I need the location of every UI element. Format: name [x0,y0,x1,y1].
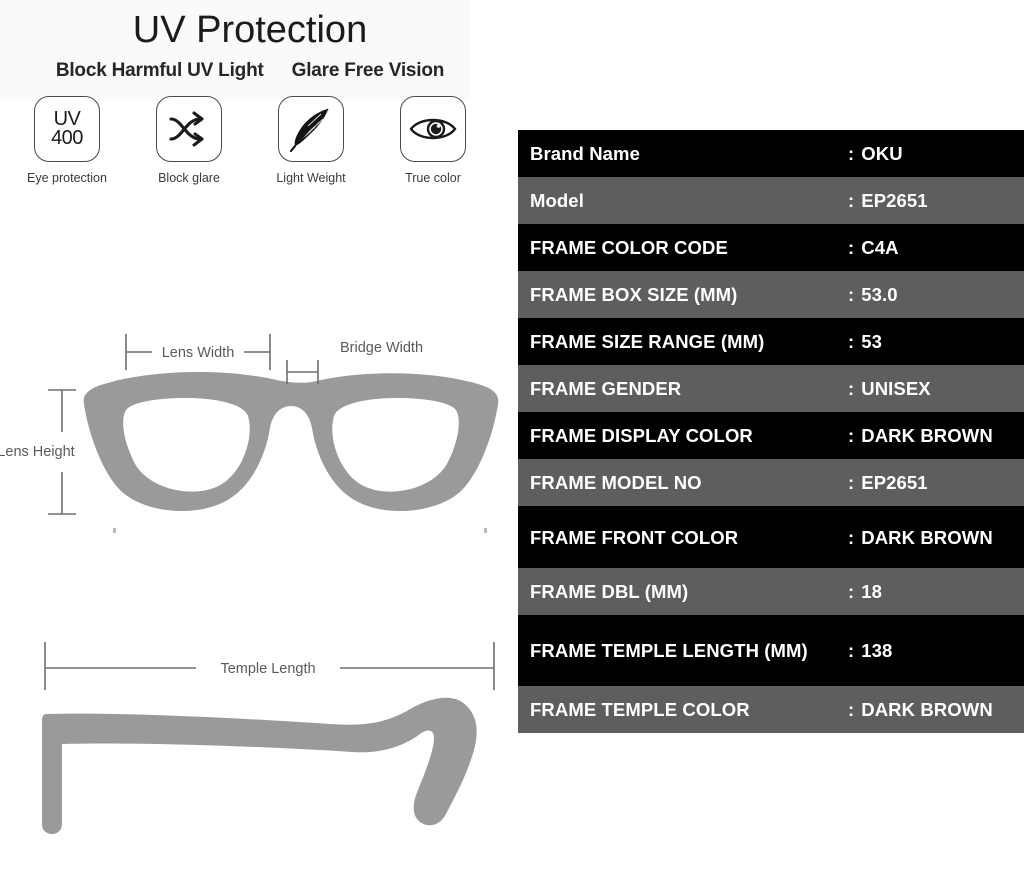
uv-feature-icons: UV 400 Eye protection [0,96,500,185]
table-row: FRAME FRONT COLOR :DARK BROWN [518,506,1024,568]
uv-subtitle-block-uv: Block Harmful UV Light [56,60,264,82]
product-spec-sheet: UV Protection Block Harmful UV Light Gla… [0,0,1024,886]
spec-label: FRAME GENDER [518,377,848,400]
feature-true-color: True color [390,96,476,185]
artifact-dot-right [484,528,487,533]
lens-height-label: Lens Height [0,444,75,460]
feature-light-weight: Light Weight [268,96,354,185]
table-row: FRAME DBL (MM) :18 [518,568,1024,615]
spec-value-text: OKU [861,143,902,164]
feature-caption-light-weight: Light Weight [276,171,345,185]
spec-value-text: 138 [861,640,892,661]
spec-value: :DARK BROWN [848,424,1024,447]
spec-value-text: C4A [861,237,898,258]
spec-value: :DARK BROWN [848,698,1024,721]
temple-arm-shape [42,698,477,834]
temple-length-label: Temple Length [220,661,315,677]
spec-separator: : [848,425,854,446]
spec-label: Brand Name [518,142,848,165]
spec-value: :UNISEX [848,377,1024,400]
table-row: FRAME GENDER :UNISEX [518,365,1024,412]
bridge-width-dimension [287,360,318,384]
spec-separator: : [848,237,854,258]
spec-value-text: 53.0 [861,284,897,305]
spec-label: FRAME SIZE RANGE (MM) [518,330,848,353]
spec-value: :C4A [848,236,1024,259]
feature-caption-true-color: True color [405,171,461,185]
uv-banner-title: UV Protection [0,0,500,52]
table-row: FRAME MODEL NO :EP2651 [518,459,1024,506]
table-row: FRAME TEMPLE COLOR :DARK BROWN [518,686,1024,733]
spec-label: FRAME BOX SIZE (MM) [518,283,848,306]
spec-value: :138 [848,639,1024,662]
spec-separator: : [848,640,854,661]
specification-table: Brand Name :OKU Model :EP2651 FRAME COLO… [518,130,1024,733]
spec-label: FRAME DBL (MM) [518,580,848,603]
uv400-icon: UV 400 [34,96,100,162]
uv400-badge-line2: 400 [51,129,83,148]
spec-value: :OKU [848,142,1024,165]
table-row: FRAME BOX SIZE (MM) :53.0 [518,271,1024,318]
table-row: Brand Name :OKU [518,130,1024,177]
frame-measurement-diagram: Lens Width Bridge Width Lens Height [0,322,512,552]
spec-value-text: UNISEX [861,378,930,399]
spec-label: FRAME MODEL NO [518,471,848,494]
table-row: FRAME TEMPLE LENGTH (MM) :138 [518,615,1024,686]
spec-separator: : [848,472,854,493]
spec-label: Model [518,189,848,212]
table-row: FRAME DISPLAY COLOR :DARK BROWN [518,412,1024,459]
spec-value: :EP2651 [848,471,1024,494]
artifact-dot-left [113,528,116,533]
spec-separator: : [848,190,854,211]
spec-separator: : [848,378,854,399]
uv-protection-banner: UV Protection Block Harmful UV Light Gla… [0,0,512,185]
spec-value: :EP2651 [848,189,1024,212]
eye-icon [400,96,466,162]
feature-caption-eye-protection: Eye protection [27,171,107,185]
spec-value-text: DARK BROWN [861,527,993,548]
spec-value: :18 [848,580,1024,603]
spec-value: :DARK BROWN [848,526,1024,549]
table-row: FRAME COLOR CODE :C4A [518,224,1024,271]
lens-width-label: Lens Width [162,345,235,361]
table-row: FRAME SIZE RANGE (MM) :53 [518,318,1024,365]
feature-caption-block-glare: Block glare [158,171,220,185]
spec-separator: : [848,143,854,164]
spec-separator: : [848,331,854,352]
spec-value-text: DARK BROWN [861,699,993,720]
bridge-width-label: Bridge Width [340,340,423,356]
spec-value-text: EP2651 [861,190,927,211]
spec-value-text: EP2651 [861,472,927,493]
spec-value: :53.0 [848,283,1024,306]
spec-value: :53 [848,330,1024,353]
uv-subtitle-glare-free: Glare Free Vision [292,60,445,82]
feature-eye-protection: UV 400 Eye protection [24,96,110,185]
spec-value-text: DARK BROWN [861,425,993,446]
spec-label: FRAME COLOR CODE [518,236,848,259]
temple-measurement-diagram: Temple Length [0,628,512,853]
feather-icon [278,96,344,162]
spec-label: FRAME DISPLAY COLOR [518,424,848,447]
eyeglass-frame-shape [84,372,499,511]
shuffle-arrows-icon [156,96,222,162]
table-row: Model :EP2651 [518,177,1024,224]
spec-separator: : [848,284,854,305]
uv-banner-subtitles: Block Harmful UV Light Glare Free Vision [0,60,500,82]
spec-label: FRAME TEMPLE LENGTH (MM) [518,639,848,662]
spec-separator: : [848,699,854,720]
spec-value-text: 18 [861,581,882,602]
spec-label: FRAME FRONT COLOR [518,526,848,549]
illustration-panel: UV Protection Block Harmful UV Light Gla… [0,0,512,886]
spec-value-text: 53 [861,331,882,352]
feature-block-glare: Block glare [146,96,232,185]
spec-label: FRAME TEMPLE COLOR [518,698,848,721]
spec-separator: : [848,581,854,602]
spec-separator: : [848,527,854,548]
